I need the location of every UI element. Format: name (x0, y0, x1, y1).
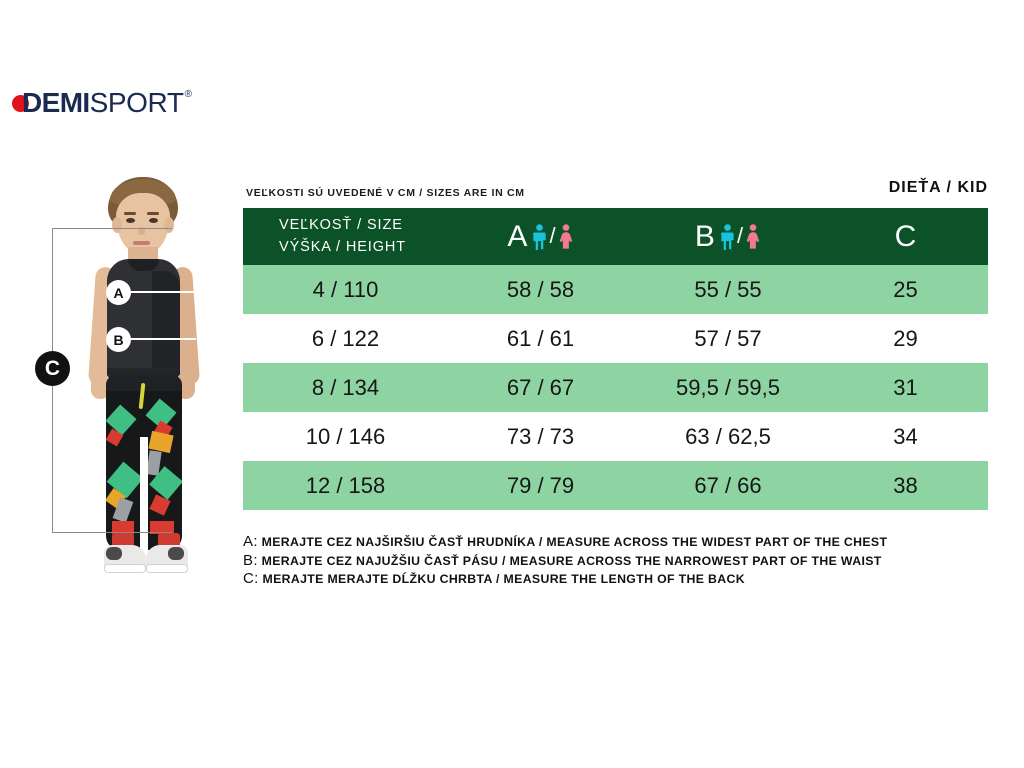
cell-c: 34 (823, 412, 988, 461)
measurement-marker-a: A (106, 280, 131, 305)
header-size-height: VEĽKOSŤ / SIZE VÝŠKA / HEIGHT (243, 208, 448, 265)
gender-slash-a: / (549, 223, 555, 249)
brand-name-light: SPORT (90, 89, 184, 117)
measurement-marker-c: C (35, 351, 70, 386)
model-brow-right (147, 212, 159, 215)
measurement-marker-b: B (106, 327, 131, 352)
footnote-text: MERAJTE CEZ NAJUŽŠIU ČASŤ PÁSU / MEASURE… (258, 554, 882, 568)
header-height-line: VÝŠKA / HEIGHT (279, 237, 448, 258)
table-row: 8 / 13467 / 6759,5 / 59,531 (243, 363, 988, 412)
footnote-key: A: (243, 533, 258, 550)
cell-c: 38 (823, 461, 988, 510)
footnote-row: A: MERAJTE CEZ NAJŠIRŠIU ČASŤ HRUDNÍKA /… (243, 533, 1003, 552)
table-row: 4 / 11058 / 5855 / 5525 (243, 265, 988, 314)
model-photo-panel: C A B (30, 175, 245, 615)
table-row: 6 / 12261 / 6157 / 5729 (243, 314, 988, 363)
cell-a: 79 / 79 (448, 461, 633, 510)
cell-size: 6 / 122 (243, 314, 448, 363)
female-pictogram-icon (745, 224, 761, 250)
size-table-header: VEĽKOSŤ / SIZE VÝŠKA / HEIGHT A / (243, 208, 988, 265)
cell-a: 73 / 73 (448, 412, 633, 461)
model-eye-left (126, 218, 135, 223)
cell-c: 29 (823, 314, 988, 363)
header-c-letter: C (895, 220, 917, 253)
cell-size: 10 / 146 (243, 412, 448, 461)
size-table-body: 4 / 11058 / 5855 / 55256 / 12261 / 6157 … (243, 265, 988, 510)
size-table: VEĽKOSŤ / SIZE VÝŠKA / HEIGHT A / (243, 208, 988, 510)
sneaker-right-sole (146, 564, 188, 573)
cell-size: 4 / 110 (243, 265, 448, 314)
cell-b: 59,5 / 59,5 (633, 363, 823, 412)
audience-label: DIEŤA / KID (889, 179, 988, 197)
units-note: VEĽKOSTI SÚ UVEDENÉ V CM / SIZES ARE IN … (246, 187, 525, 199)
measurement-line-a (128, 291, 196, 293)
sneaker-right-accent (168, 547, 184, 560)
header-column-a: A / (448, 208, 633, 265)
table-header-row: VEĽKOSŤ / SIZE VÝŠKA / HEIGHT A / (243, 208, 988, 265)
brand-name-bold: DEMI (22, 89, 90, 117)
cell-size: 12 / 158 (243, 461, 448, 510)
cell-b: 55 / 55 (633, 265, 823, 314)
header-b-letter: B (695, 220, 715, 254)
male-pictogram-icon (720, 224, 735, 250)
footnote-text: MERAJTE MERAJTE DĹŽKU CHRBTA / MEASURE T… (259, 572, 745, 586)
gender-icon-group-a: / (532, 224, 573, 250)
female-pictogram-icon (558, 224, 574, 250)
header-column-c: C (823, 208, 988, 265)
table-row: 10 / 14673 / 7363 / 62,534 (243, 412, 988, 461)
table-row: 12 / 15879 / 7967 / 6638 (243, 461, 988, 510)
male-pictogram-icon (532, 224, 547, 250)
cell-a: 58 / 58 (448, 265, 633, 314)
footnote-row: B: MERAJTE CEZ NAJUŽŠIU ČASŤ PÁSU / MEAS… (243, 552, 1003, 571)
footnote-key: C: (243, 570, 259, 587)
measurement-bracket-c (52, 228, 172, 533)
header-size-line: VEĽKOSŤ / SIZE (279, 215, 448, 236)
sneaker-left-sole (104, 564, 146, 573)
header-a-letter: A (507, 220, 527, 254)
cell-a: 67 / 67 (448, 363, 633, 412)
measurement-footnotes: A: MERAJTE CEZ NAJŠIRŠIU ČASŤ HRUDNÍKA /… (243, 533, 1003, 589)
cell-c: 25 (823, 265, 988, 314)
registered-mark: ® (185, 90, 192, 100)
footnote-row: C: MERAJTE MERAJTE DĹŽKU CHRBTA / MEASUR… (243, 570, 1003, 589)
measurement-line-b (128, 338, 196, 340)
footnote-text: MERAJTE CEZ NAJŠIRŠIU ČASŤ HRUDNÍKA / ME… (258, 535, 887, 549)
cell-a: 61 / 61 (448, 314, 633, 363)
cell-c: 31 (823, 363, 988, 412)
sneaker-left-accent (106, 547, 122, 560)
cell-size: 8 / 134 (243, 363, 448, 412)
model-eye-right (149, 218, 158, 223)
size-chart-page: DEMI SPORT ® (0, 0, 1024, 768)
gender-slash-b: / (737, 223, 743, 249)
header-column-b: B / (633, 208, 823, 265)
model-brow-left (124, 212, 136, 215)
footnote-key: B: (243, 552, 258, 569)
brand-logo: DEMI SPORT ® (12, 88, 192, 118)
cell-b: 67 / 66 (633, 461, 823, 510)
cell-b: 57 / 57 (633, 314, 823, 363)
gender-icon-group-b: / (720, 224, 761, 250)
cell-b: 63 / 62,5 (633, 412, 823, 461)
